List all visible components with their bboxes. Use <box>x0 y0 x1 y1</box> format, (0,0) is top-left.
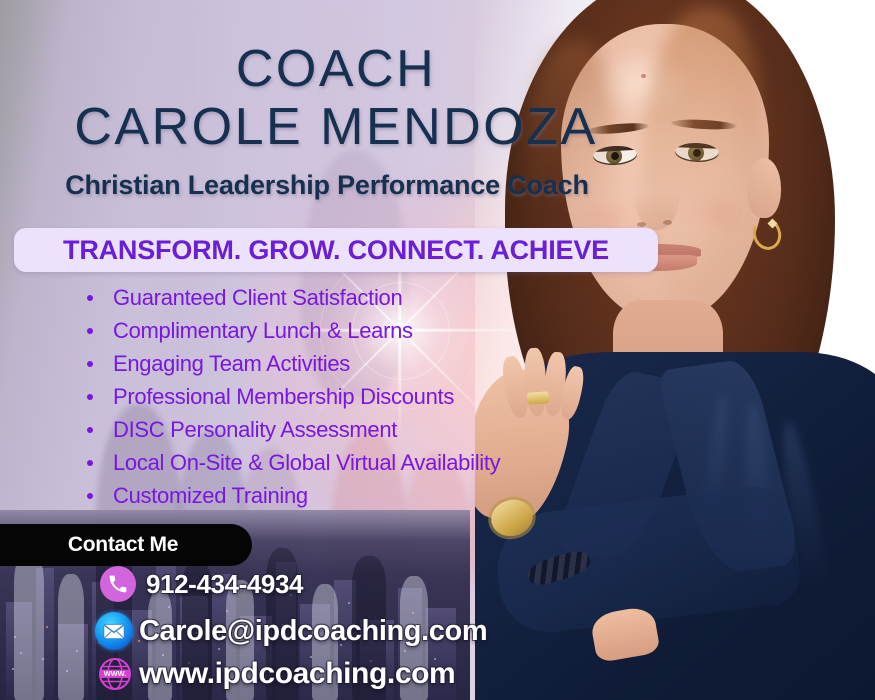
list-item: Customized Training <box>82 479 602 512</box>
envelope-icon <box>95 612 133 650</box>
list-item: Guaranteed Client Satisfaction <box>82 281 602 314</box>
email-contact-row[interactable]: Carole@ipdcoaching.com <box>95 612 487 650</box>
globe-www-icon: WWW. <box>97 656 133 692</box>
list-item: Engaging Team Activities <box>82 347 602 380</box>
benefit-label: Complimentary Lunch & Learns <box>113 318 413 343</box>
phone-contact-row[interactable]: 912-434-4934 <box>100 566 303 602</box>
benefit-label: Professional Membership Discounts <box>113 384 454 409</box>
benefits-list: Guaranteed Client Satisfaction Complimen… <box>82 281 602 512</box>
list-item: Local On-Site & Global Virtual Availabil… <box>82 446 602 479</box>
poster-canvas: COACH CAROLE MENDOZA Christian Leadershi… <box>0 0 875 700</box>
phone-icon <box>100 566 136 602</box>
contact-me-label: Contact Me <box>68 533 178 557</box>
benefit-label: Engaging Team Activities <box>113 351 350 376</box>
contact-me-button[interactable]: Contact Me <box>0 524 252 566</box>
list-item: Professional Membership Discounts <box>82 380 602 413</box>
phone-number: 912-434-4934 <box>146 569 303 600</box>
list-item: DISC Personality Assessment <box>82 413 602 446</box>
benefit-label: DISC Personality Assessment <box>113 417 397 442</box>
subtitle: Christian Leadership Performance Coach <box>0 170 654 201</box>
email-address: Carole@ipdcoaching.com <box>139 615 487 648</box>
benefit-label: Guaranteed Client Satisfaction <box>113 285 402 310</box>
website-contact-row[interactable]: WWW. www.ipdcoaching.com <box>97 656 455 692</box>
benefit-label: Local On-Site & Global Virtual Availabil… <box>113 450 500 475</box>
headline-line-2: CAROLE MENDOZA <box>0 98 672 156</box>
benefit-label: Customized Training <box>113 483 308 508</box>
list-item: Complimentary Lunch & Learns <box>82 314 602 347</box>
page-title: COACH CAROLE MENDOZA <box>0 40 672 156</box>
headline-line-1: COACH <box>0 40 672 98</box>
tagline-banner: TRANSFORM. GROW. CONNECT. ACHIEVE <box>14 228 658 272</box>
www-label: WWW. <box>104 669 127 678</box>
tagline-text: TRANSFORM. GROW. CONNECT. ACHIEVE <box>63 235 609 266</box>
website-url: www.ipdcoaching.com <box>139 657 455 691</box>
